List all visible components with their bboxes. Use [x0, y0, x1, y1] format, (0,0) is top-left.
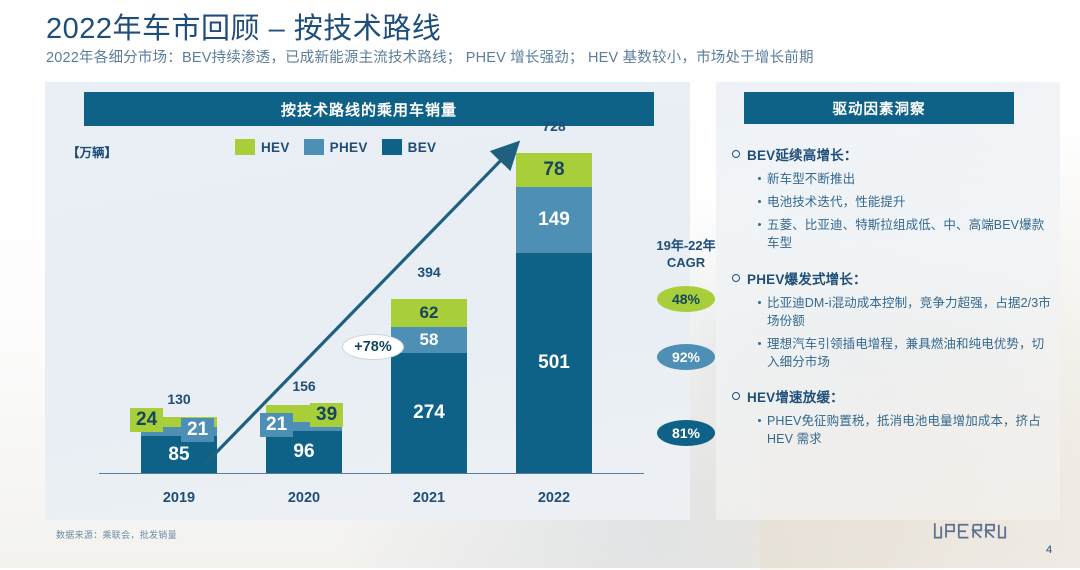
- bar-total-2020: 156: [266, 378, 342, 394]
- bar-value-bev-2021: 274: [413, 402, 445, 424]
- cagr-badge-phev: 92%: [657, 344, 715, 370]
- insight-phev-bullet-1: 比亚迪DM-i混动成本控制，竞争力超强，占据2/3市场份额: [767, 294, 1052, 330]
- page-number: 4: [1046, 544, 1052, 556]
- insight-group-phev: PHEV爆发式增长： 比亚迪DM-i混动成本控制，竞争力超强，占据2/3市场份额…: [732, 268, 1052, 372]
- bar-value-chip-phev-2019: 21: [181, 418, 214, 442]
- list-item: 电池技术迭代，性能提升: [758, 193, 1052, 211]
- bar-value-chip-hev-2019: 24: [130, 408, 163, 432]
- bar-value-phev-2022: 149: [538, 209, 570, 231]
- list-item: 新车型不断推出: [758, 170, 1052, 188]
- data-source-note: 数据来源：乘联会，批发销量: [56, 528, 177, 541]
- dot-bullet-icon: [758, 177, 761, 180]
- bar-value-hev-2020: 39: [316, 404, 337, 425]
- bar-value-bev-2019: 85: [168, 444, 189, 466]
- insight-group-bev: BEV延续高增长： 新车型不断推出 电池技术迭代，性能提升 五菱、比亚迪、特斯拉…: [732, 144, 1052, 253]
- insights-panel: 驱动因素洞察 BEV延续高增长： 新车型不断推出 电池技术迭代，性能提升 五菱: [716, 82, 1060, 520]
- insight-hev-bullet-1: PHEV免征购置税，抵消电池电量增加成本，挤占 HEV 需求: [767, 412, 1052, 448]
- slide: 2022年车市回顾 – 按技术路线 2022年各细分市场：BEV持续渗透，已成新…: [0, 0, 1080, 568]
- bar-segment-hev-2021: 62: [391, 299, 467, 327]
- insights-panel-title: 驱动因素洞察: [744, 92, 1014, 124]
- insight-bev-bullet-2: 电池技术迭代，性能提升: [767, 193, 906, 211]
- insight-group-bev-header: BEV延续高增长：: [732, 144, 1052, 164]
- bar-segment-phev-2022: 149: [516, 187, 592, 253]
- trend-growth-badge: +78%: [342, 334, 404, 360]
- bar-segment-bev-2021: 274: [391, 353, 467, 473]
- bar-segment-bev-2022: 501: [516, 253, 592, 473]
- bar-value-hev-2019: 24: [136, 409, 157, 430]
- bar-value-bev-2022: 501: [538, 352, 570, 374]
- list-item: 比亚迪DM-i混动成本控制，竞争力超强，占据2/3市场份额: [758, 294, 1052, 330]
- insight-group-hev-title: HEV增速放缓：: [747, 386, 844, 406]
- x-tick-2022: 2022: [516, 490, 592, 506]
- cagr-badge-hev: 48%: [657, 286, 715, 312]
- ring-bullet-icon: [732, 150, 740, 158]
- x-tick-2021: 2021: [391, 490, 467, 506]
- ring-bullet-icon: [732, 392, 740, 400]
- bar-value-phev-2020: 21: [266, 414, 287, 435]
- insight-group-phev-header: PHEV爆发式增长：: [732, 268, 1052, 288]
- dot-bullet-icon: [758, 223, 761, 226]
- ring-bullet-icon: [732, 274, 740, 282]
- bar-value-phev-2021: 58: [420, 330, 439, 350]
- brand-logo-icon: [930, 518, 1026, 546]
- cagr-badge-bev: 81%: [657, 420, 715, 446]
- dot-bullet-icon: [758, 200, 761, 203]
- bar-value-bev-2020: 96: [293, 441, 314, 463]
- bar-total-2019: 130: [141, 391, 217, 407]
- chart-x-axis: [99, 473, 644, 474]
- bar-total-2021: 394: [391, 264, 467, 280]
- insight-group-hev-header: HEV增速放缓：: [732, 386, 1052, 406]
- chart-plot-area: 130 85 24 21 2019 156 96: [45, 82, 690, 520]
- x-tick-2019: 2019: [141, 490, 217, 506]
- insight-phev-bullet-2: 理想汽车引领插电增程，兼具燃油和纯电优势，切入细分市场: [767, 335, 1052, 371]
- bar-value-chip-hev-2020: 39: [310, 403, 343, 427]
- page-subtitle: 2022年各细分市场：BEV持续渗透，已成新能源主流技术路线； PHEV 增长强…: [46, 46, 814, 67]
- bar-total-2022: 728: [516, 118, 592, 134]
- list-item: 五菱、比亚迪、特斯拉组成低、中、高端BEV爆款车型: [758, 216, 1052, 252]
- insight-group-phev-title: PHEV爆发式增长：: [747, 268, 867, 288]
- insight-bev-bullet-1: 新车型不断推出: [767, 170, 855, 188]
- insight-group-hev: HEV增速放缓： PHEV免征购置税，抵消电池电量增加成本，挤占 HEV 需求: [732, 386, 1052, 448]
- bar-segment-bev-2020: 96: [266, 431, 342, 473]
- insight-bev-bullet-3: 五菱、比亚迪、特斯拉组成低、中、高端BEV爆款车型: [767, 216, 1052, 252]
- dot-bullet-icon: [758, 301, 761, 304]
- bar-segment-hev-2022: 78: [516, 153, 592, 187]
- list-item: 理想汽车引领插电增程，兼具燃油和纯电优势，切入细分市场: [758, 335, 1052, 371]
- x-tick-2020: 2020: [266, 490, 342, 506]
- bar-value-hev-2021: 62: [420, 303, 439, 323]
- insights-list: BEV延续高增长： 新车型不断推出 电池技术迭代，性能提升 五菱、比亚迪、特斯拉…: [732, 144, 1052, 463]
- chart-panel: 按技术路线的乘用车销量 【万辆】 HEV PHEV BEV 130 85: [45, 82, 690, 520]
- list-item: PHEV免征购置税，抵消电池电量增加成本，挤占 HEV 需求: [758, 412, 1052, 448]
- insight-group-bev-title: BEV延续高增长：: [747, 144, 858, 164]
- bar-value-phev-2019: 21: [187, 419, 208, 440]
- dot-bullet-icon: [758, 419, 761, 422]
- page-title: 2022年车市回顾 – 按技术路线: [46, 5, 441, 47]
- bar-value-hev-2022: 78: [543, 159, 564, 181]
- dot-bullet-icon: [758, 342, 761, 345]
- bar-value-chip-phev-2020: 21: [260, 413, 293, 437]
